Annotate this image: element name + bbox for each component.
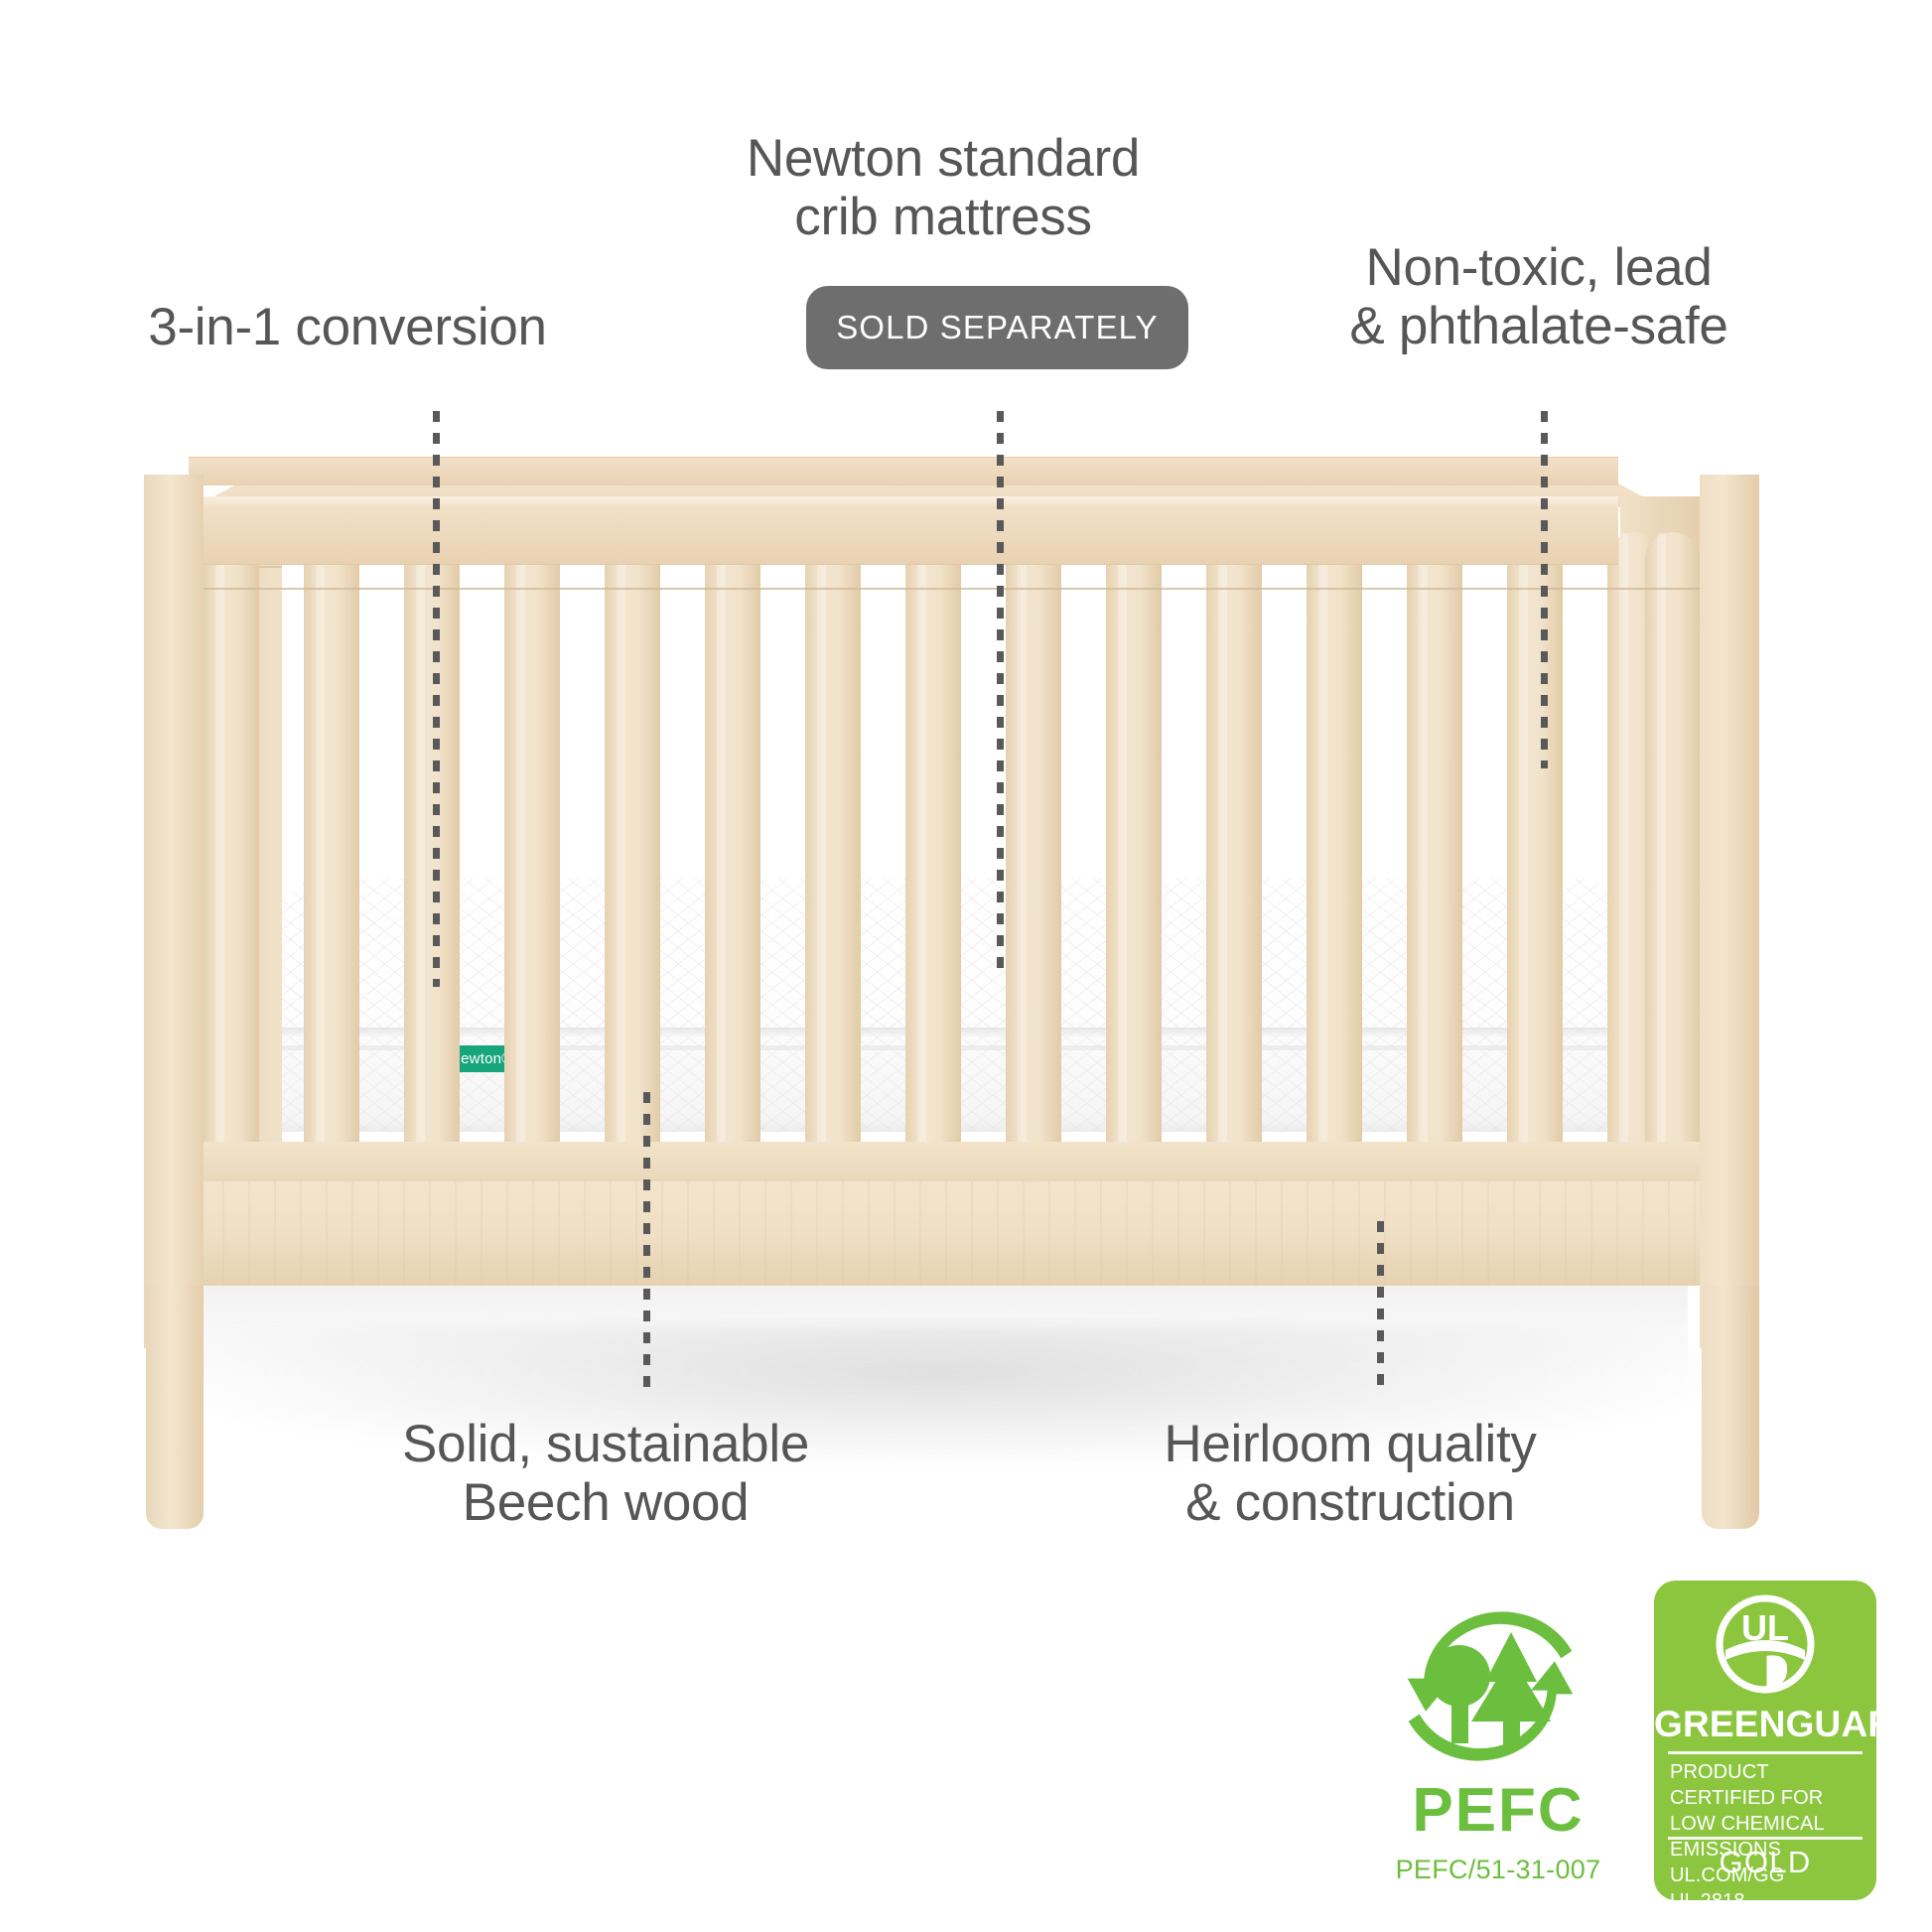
- crib-slat: [1006, 532, 1061, 1148]
- crib-front-top-rail-highlight: [189, 496, 1618, 506]
- infographic-canvas: newton®: [0, 0, 1932, 1932]
- svg-text:UL: UL: [1741, 1607, 1789, 1648]
- crib-slat: [1206, 532, 1262, 1148]
- crib-slat: [1507, 532, 1563, 1148]
- crib-back-top-rail: [189, 457, 1618, 485]
- crib-front-top-rail: [189, 496, 1618, 565]
- sold-separately-badge: SOLD SEPARATELY: [806, 286, 1188, 369]
- leader-line-beech-wood: [643, 1092, 650, 1390]
- crib-slat: [805, 532, 861, 1148]
- greenguard-divider-bottom: [1668, 1837, 1863, 1840]
- pefc-wordmark: PEFC: [1388, 1775, 1608, 1846]
- crib-slat: [605, 532, 660, 1148]
- crib-slat: [1407, 532, 1462, 1148]
- sold-separately-label: SOLD SEPARATELY: [836, 309, 1159, 346]
- crib-slat: [1106, 532, 1162, 1148]
- greenguard-level: GOLD: [1654, 1845, 1876, 1880]
- pefc-certificate-code: PEFC/51-31-007: [1388, 1855, 1608, 1885]
- crib-right-leg: [1702, 1286, 1759, 1529]
- callout-non-toxic-lead-phthalate-safe: Non-toxic, lead & phthalate-safe: [1281, 238, 1797, 356]
- crib-slat: [504, 532, 560, 1148]
- greenguard-wordmark: GREENGUARD: [1654, 1704, 1876, 1745]
- crib-slat: [905, 532, 961, 1148]
- callout-newton-standard-crib-mattress: Newton standard crib mattress: [685, 129, 1201, 247]
- crib-slat: [1645, 532, 1701, 1148]
- ul-leaf-icon: UL: [1716, 1594, 1815, 1694]
- crib-right-corner-post: [1700, 475, 1759, 1348]
- pefc-trees-icon: [1400, 1598, 1598, 1782]
- crib-slat: [404, 532, 460, 1148]
- crib-left-leg: [146, 1286, 204, 1529]
- callout-3-in-1-conversion: 3-in-1 conversion: [99, 298, 596, 356]
- crib-slat: [304, 532, 359, 1148]
- slat-mid-seam: [204, 588, 1701, 590]
- crib-base-ledge: [197, 1142, 1706, 1182]
- greenguard-gold-badge: UL GREENGUARD PRODUCT CERTIFIED FOR LOW …: [1654, 1581, 1876, 1900]
- crib-slat-group: [204, 532, 1701, 1148]
- crib-slat: [1307, 532, 1362, 1148]
- wood-grain-texture: [197, 1181, 1706, 1286]
- leader-line-nontoxic: [1541, 411, 1548, 768]
- greenguard-divider-top: [1668, 1751, 1863, 1754]
- leader-line-heirloom: [1377, 1221, 1384, 1390]
- certification-logos: PEFC PEFC/51-31-007 UL GREENGUARD PRODUC…: [1388, 1581, 1896, 1908]
- crib-left-corner-post: [144, 475, 204, 1348]
- callout-heirloom-quality-construction: Heirloom quality & construction: [1072, 1415, 1628, 1533]
- callout-solid-sustainable-beech-wood: Solid, sustainable Beech wood: [328, 1415, 884, 1533]
- crib-slat: [705, 532, 760, 1148]
- crib-slat: [204, 532, 259, 1148]
- crib-base-skirt: [197, 1181, 1706, 1286]
- leader-line-mattress: [997, 411, 1004, 977]
- pefc-logo: PEFC PEFC/51-31-007: [1388, 1598, 1608, 1896]
- leader-line-conversion: [433, 411, 440, 987]
